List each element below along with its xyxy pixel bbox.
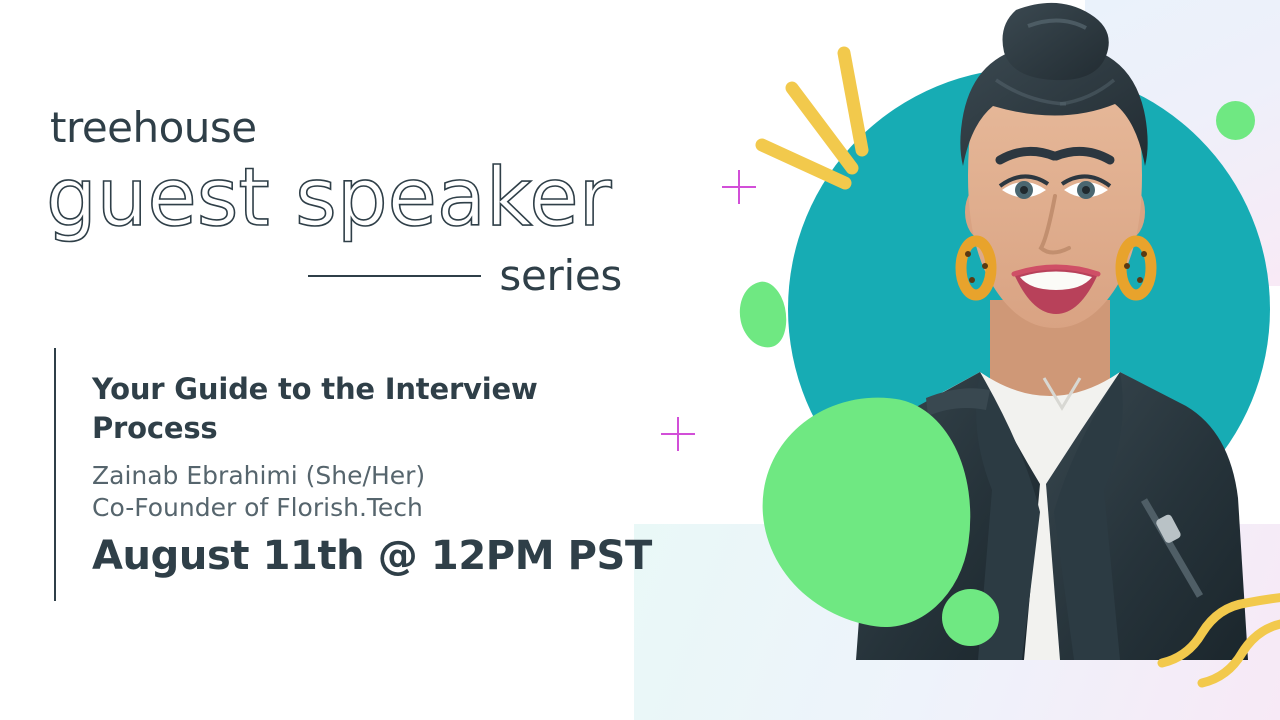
talk-title: Your Guide to the Interview Process (92, 370, 612, 447)
headline-outline-text: guest speaker (46, 158, 611, 238)
green-dot-top (1216, 101, 1255, 140)
event-datetime: August 11th @ 12PM PST (92, 532, 652, 580)
green-blob-small (734, 278, 793, 352)
guest-speaker-promo-slide: treehouse guest speaker series Your Guid… (0, 0, 1280, 720)
magenta-plus-upper-icon (722, 170, 756, 204)
magenta-plus-lower-icon (661, 417, 695, 451)
speaker-name: Zainab Ebrahimi (She/Her) (92, 460, 425, 493)
series-divider-rule (308, 275, 481, 277)
yellow-squiggles-icon (1150, 585, 1280, 720)
speaker-role: Co-Founder of Florish.Tech (92, 492, 423, 525)
series-label: series (499, 255, 622, 297)
brand-name: treehouse (50, 107, 257, 149)
detail-vertical-rule (54, 348, 56, 601)
series-row: series (308, 255, 622, 297)
green-dot-bottom (942, 589, 999, 646)
